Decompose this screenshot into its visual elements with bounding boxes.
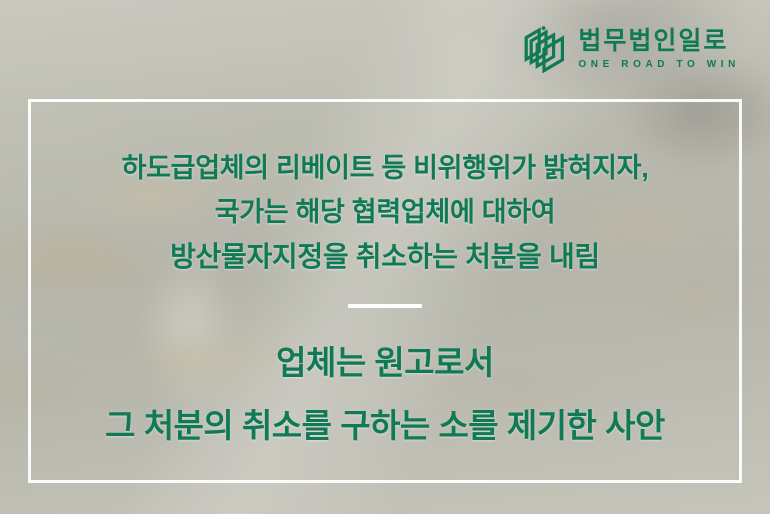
body-line-3: 방산물자지정을 취소하는 처분을 내림 xyxy=(170,234,600,279)
logo-text-block: 법무법인일로 ONE ROAD TO WIN xyxy=(578,28,740,69)
message-content: 하도급업체의 리베이트 등 비위행위가 밝혀지자, 국가는 해당 협력업체에 대… xyxy=(28,99,742,483)
brand-tagline: ONE ROAD TO WIN xyxy=(578,60,740,70)
hexagon-cube-logo-icon xyxy=(523,25,565,73)
brand-name: 법무법인일로 xyxy=(578,28,728,54)
section-divider xyxy=(348,304,422,308)
body-line-1: 하도급업체의 리베이트 등 비위행위가 밝혀지자, xyxy=(122,147,649,191)
body-line-5: 그 처분의 취소를 구하는 소를 제기한 사안 xyxy=(105,395,665,458)
promo-card: 법무법인일로 ONE ROAD TO WIN 하도급업체의 리베이트 등 비위행… xyxy=(0,0,770,514)
brand-logo[interactable]: 법무법인일로 ONE ROAD TO WIN xyxy=(523,25,740,73)
body-line-2: 국가는 해당 협력업체에 대하여 xyxy=(215,191,556,235)
body-line-4: 업체는 원고로서 xyxy=(276,332,494,395)
